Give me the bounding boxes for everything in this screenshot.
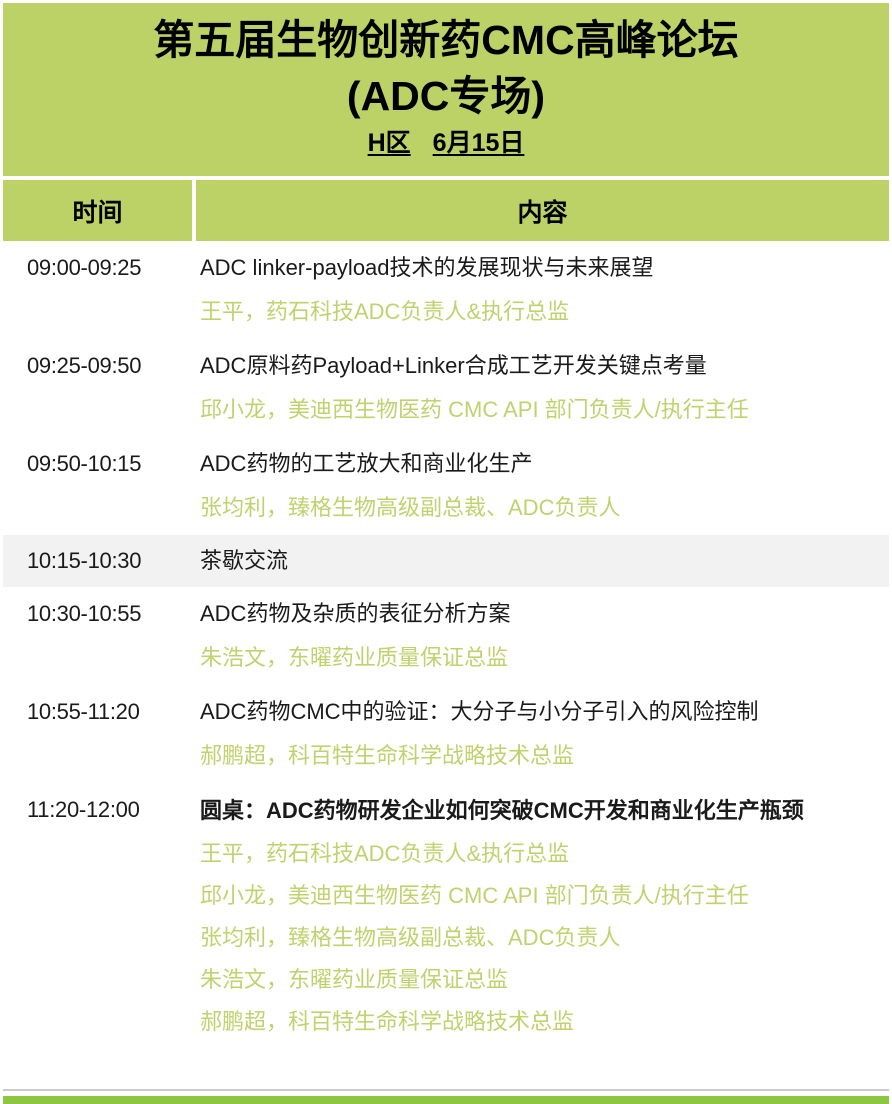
session-speaker: 邱小龙，美迪西生物医药 CMC API 部门负责人/执行主任 — [200, 881, 879, 911]
session-time: 09:50-10:15 — [3, 437, 200, 491]
session-speaker: 郝鹏超，科百特生命科学战略技术总监 — [200, 741, 879, 771]
session-speaker: 邱小龙，美迪西生物医药 CMC API 部门负责人/执行主任 — [200, 395, 879, 425]
agenda-page: 第五届生物创新药CMC高峰论坛 (ADC专场) H区6月15日 时间 内容 09… — [0, 0, 892, 1104]
session-time: 10:30-10:55 — [3, 587, 200, 641]
session-speaker: 王平，药石科技ADC负责人&执行总监 — [200, 297, 879, 327]
session-speaker: 张均利，臻格生物高级副总裁、ADC负责人 — [200, 493, 879, 523]
session-content: ADC药物及杂质的表征分析方案朱浩文，东曜药业质量保证总监 — [200, 587, 889, 685]
title-banner: 第五届生物创新药CMC高峰论坛 (ADC专场) H区6月15日 — [3, 3, 889, 176]
event-date-label: 6月15日 — [433, 129, 525, 157]
session-time: 09:25-09:50 — [3, 339, 200, 393]
footer-accent-bar — [3, 1096, 889, 1104]
session-time: 11:20-12:00 — [3, 783, 200, 837]
table-row: 11:20-12:00圆桌：ADC药物研发企业如何突破CMC开发和商业化生产瓶颈… — [3, 783, 889, 1049]
session-content: ADC原料药Payload+Linker合成工艺开发关键点考量邱小龙，美迪西生物… — [200, 339, 889, 437]
session-time: 10:15-10:30 — [3, 535, 200, 587]
session-topic: ADC药物的工艺放大和商业化生产 — [200, 449, 879, 479]
column-header-content: 内容 — [196, 193, 889, 229]
session-speaker: 张均利，臻格生物高级副总裁、ADC负责人 — [200, 923, 879, 953]
session-speaker: 朱浩文，东曜药业质量保证总监 — [200, 965, 879, 995]
session-topic: ADC原料药Payload+Linker合成工艺开发关键点考量 — [200, 351, 879, 381]
session-topic: ADC药物CMC中的验证：大分子与小分子引入的风险控制 — [200, 697, 879, 727]
table-row: 09:25-09:50ADC原料药Payload+Linker合成工艺开发关键点… — [3, 339, 889, 437]
session-content: ADC linker-payload技术的发展现状与未来展望王平，药石科技ADC… — [200, 241, 889, 339]
event-zone-label: H区 — [368, 129, 411, 157]
session-speaker: 郝鹏超，科百特生命科学战略技术总监 — [200, 1007, 879, 1037]
session-content: 茶歇交流 — [200, 535, 889, 587]
event-title-line-2: (ADC专场) — [3, 68, 889, 124]
session-topic: 茶歇交流 — [200, 546, 879, 576]
session-time: 10:55-11:20 — [3, 685, 200, 739]
session-time: 09:00-09:25 — [3, 241, 200, 295]
session-speaker: 朱浩文，东曜药业质量保证总监 — [200, 643, 879, 673]
event-subtitle: H区6月15日 — [3, 128, 889, 158]
session-content: ADC药物的工艺放大和商业化生产张均利，臻格生物高级副总裁、ADC负责人 — [200, 437, 889, 535]
session-topic: ADC药物及杂质的表征分析方案 — [200, 599, 879, 629]
schedule-table-header: 时间 内容 — [3, 180, 889, 241]
table-bottom-rule — [3, 1089, 889, 1091]
table-row: 10:15-10:30茶歇交流 — [3, 535, 889, 587]
schedule-table-body: 09:00-09:25ADC linker-payload技术的发展现状与未来展… — [3, 241, 889, 1049]
column-header-time: 时间 — [3, 193, 192, 229]
table-row: 09:00-09:25ADC linker-payload技术的发展现状与未来展… — [3, 241, 889, 339]
table-row: 10:30-10:55ADC药物及杂质的表征分析方案朱浩文，东曜药业质量保证总监 — [3, 587, 889, 685]
event-title-line-1: 第五届生物创新药CMC高峰论坛 — [3, 3, 889, 68]
session-content: 圆桌：ADC药物研发企业如何突破CMC开发和商业化生产瓶颈王平，药石科技ADC负… — [200, 783, 889, 1049]
session-topic: ADC linker-payload技术的发展现状与未来展望 — [200, 253, 879, 283]
table-row: 09:50-10:15ADC药物的工艺放大和商业化生产张均利，臻格生物高级副总裁… — [3, 437, 889, 535]
session-content: ADC药物CMC中的验证：大分子与小分子引入的风险控制郝鹏超，科百特生命科学战略… — [200, 685, 889, 783]
session-topic: 圆桌：ADC药物研发企业如何突破CMC开发和商业化生产瓶颈 — [200, 795, 879, 827]
table-row: 10:55-11:20ADC药物CMC中的验证：大分子与小分子引入的风险控制郝鹏… — [3, 685, 889, 783]
session-speaker: 王平，药石科技ADC负责人&执行总监 — [200, 839, 879, 869]
